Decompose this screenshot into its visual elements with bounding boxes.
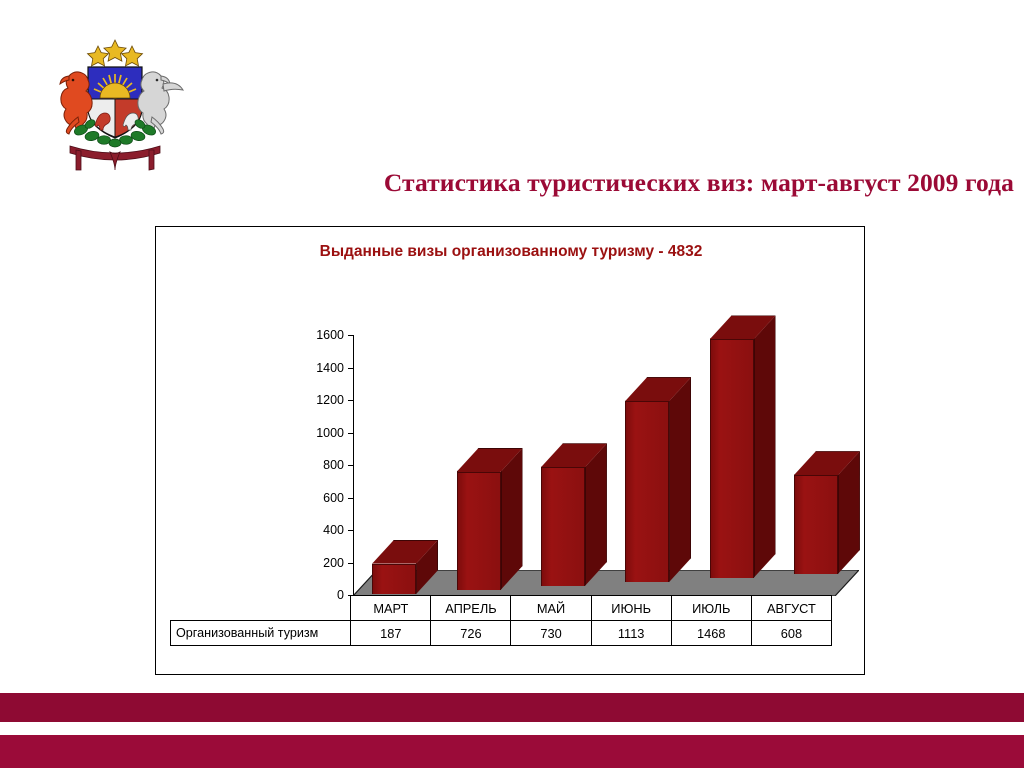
- y-tick-mark: [348, 335, 354, 336]
- bar-chart-plot: 16001400120010008006004002000 МАРТАПРЕЛЬ…: [156, 227, 866, 676]
- chart-card: Выданные визы организованному туризму - …: [155, 226, 865, 675]
- footer-band-bottom: [0, 735, 1024, 768]
- bar-июнь: [625, 377, 691, 582]
- table-row-header: МАРТАПРЕЛЬМАЙИЮНЬИЮЛЬАВГУСТ: [171, 596, 832, 621]
- table-value-cell: 1468: [671, 621, 751, 646]
- bar-июль: [710, 315, 776, 578]
- footer-band-top: [0, 693, 1024, 722]
- bar-май: [541, 443, 607, 586]
- coat-of-arms-of-latvia-icon: [32, 26, 198, 174]
- table-value-cell: 730: [511, 621, 591, 646]
- table-corner-cell: [171, 596, 351, 621]
- bar-front-face: [710, 339, 754, 578]
- bar-side-face: [754, 315, 776, 578]
- y-tick-mark: [348, 563, 354, 564]
- bar-side-face: [669, 377, 691, 582]
- bar-front-face: [625, 401, 669, 582]
- y-tick-mark: [348, 465, 354, 466]
- bar-front-face: [457, 472, 501, 590]
- data-table: МАРТАПРЕЛЬМАЙИЮНЬИЮЛЬАВГУСТ Организованн…: [170, 595, 832, 646]
- table-header-cell: МАЙ: [511, 596, 591, 621]
- y-tick-mark: [348, 400, 354, 401]
- y-tick-mark: [348, 368, 354, 369]
- bar-side-face: [585, 443, 607, 586]
- table-value-cell: 726: [431, 621, 511, 646]
- bar-front-face: [372, 564, 416, 594]
- page-title: Статистика туристических виз: март-авгус…: [0, 168, 1014, 198]
- table-value-cell: 608: [751, 621, 831, 646]
- y-tick-mark: [348, 530, 354, 531]
- bar-front-face: [541, 467, 585, 586]
- table-header-cell: ИЮЛЬ: [671, 596, 751, 621]
- y-tick-mark: [348, 498, 354, 499]
- table-row-label: Организованный туризм: [171, 621, 351, 646]
- bar-front-face: [794, 475, 838, 574]
- y-tick-mark: [348, 433, 354, 434]
- bar-август: [794, 451, 860, 574]
- bar-март: [372, 540, 438, 594]
- table-header-cell: МАРТ: [351, 596, 431, 621]
- table-value-cell: 1113: [591, 621, 671, 646]
- table-header-cell: ИЮНЬ: [591, 596, 671, 621]
- table-row-values: Организованный туризм 187726730111314686…: [171, 621, 832, 646]
- table-header-cell: АВГУСТ: [751, 596, 831, 621]
- y-tick-mark: [348, 595, 354, 596]
- slide-canvas: Статистика туристических виз: март-авгус…: [0, 0, 1024, 768]
- table-header-cell: АПРЕЛЬ: [431, 596, 511, 621]
- bar-side-face: [501, 448, 523, 590]
- bar-апрель: [457, 448, 523, 590]
- table-value-cell: 187: [351, 621, 431, 646]
- footer-band-divider: [0, 722, 1024, 735]
